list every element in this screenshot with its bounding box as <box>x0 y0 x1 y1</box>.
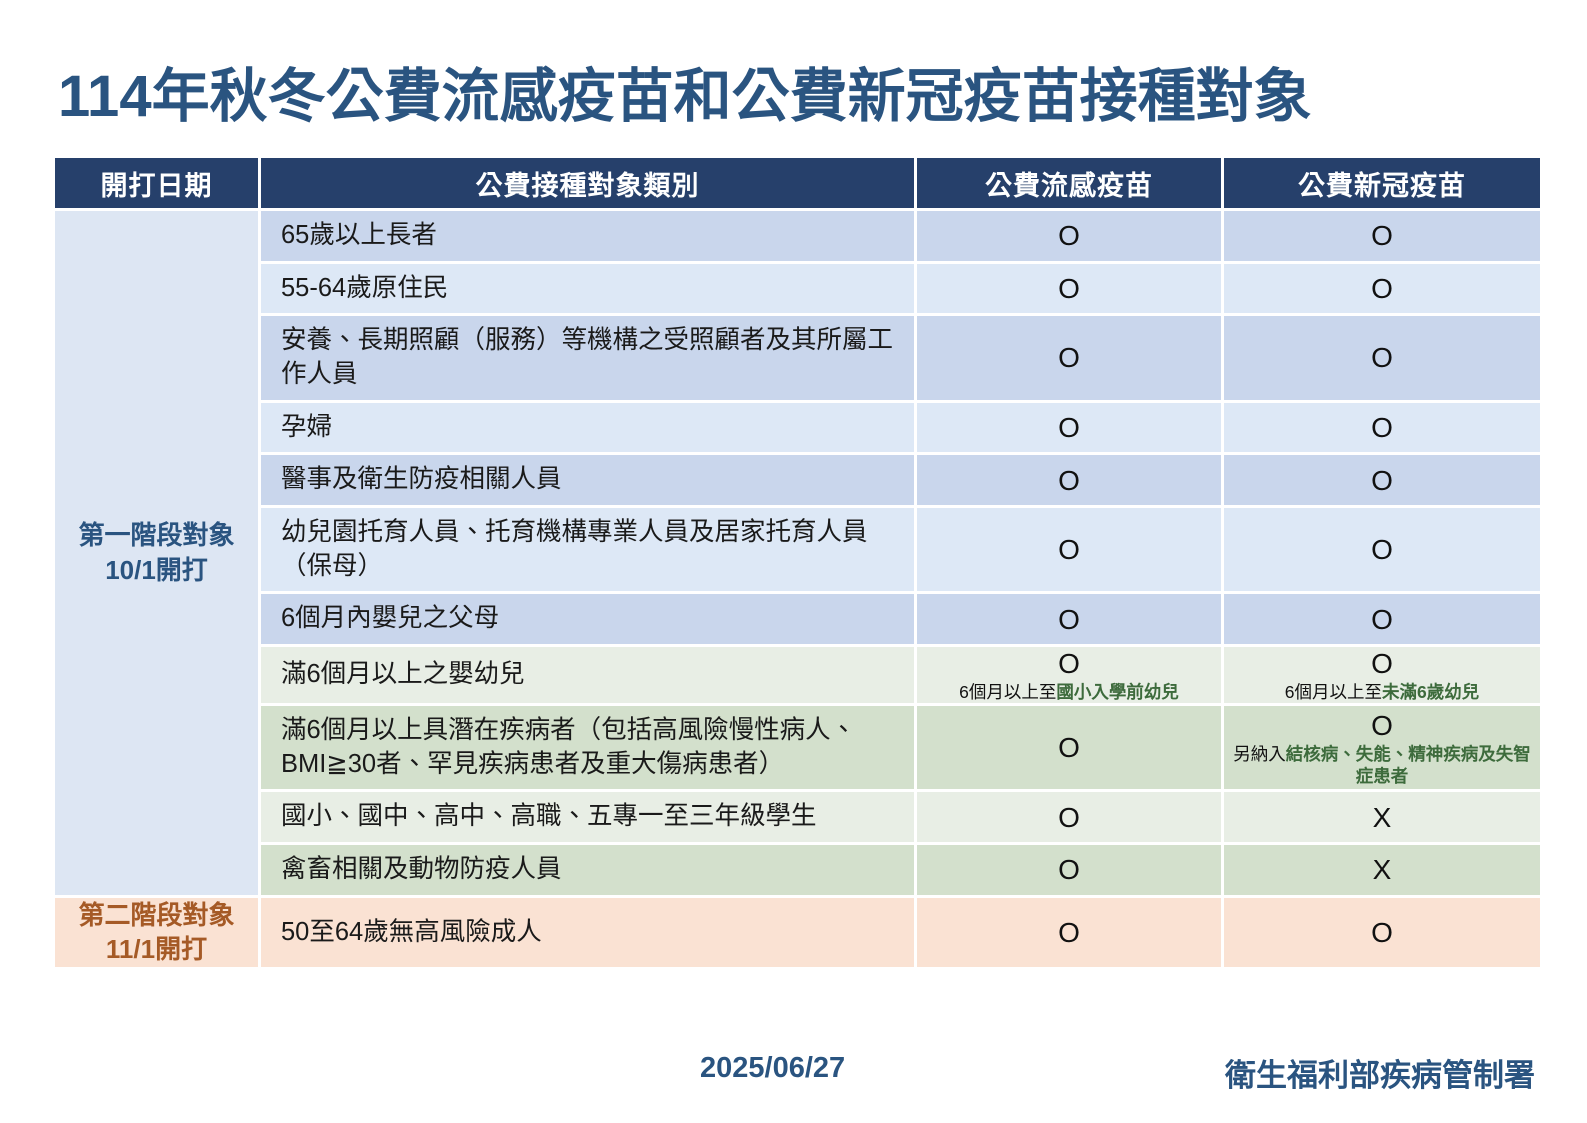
category-cell: 孕婦 <box>261 403 914 453</box>
flu-mark-cell: O <box>917 455 1221 505</box>
category-cell: 禽畜相關及動物防疫人員 <box>261 845 914 895</box>
flu-mark-cell: O <box>917 792 1221 842</box>
covid-eligibility-mark: O <box>1224 916 1540 949</box>
table-row: 孕婦OO <box>55 403 1540 453</box>
column-header-category: 公費接種對象類別 <box>261 158 914 208</box>
category-cell: 滿6個月以上之嬰幼兒 <box>261 647 914 703</box>
table-row: 第一階段對象10/1開打65歲以上長者OO <box>55 211 1540 261</box>
covid-note-prefix: 另納入 <box>1233 744 1286 764</box>
covid-eligibility-mark: O <box>1224 647 1540 680</box>
covid-mark-cell: O <box>1224 594 1540 644</box>
table-row: 滿6個月以上具潛在疾病者（包括高風險慢性病人、BMI≧30者、罕見疾病患者及重大… <box>55 706 1540 789</box>
covid-mark-note: 6個月以上至未滿6歲幼兒 <box>1224 681 1540 703</box>
phase-title: 第二階段對象 <box>55 898 258 933</box>
category-cell: 幼兒園托育人員、托育機構專業人員及居家托育人員（保母） <box>261 508 914 591</box>
column-header-flu: 公費流感疫苗 <box>917 158 1221 208</box>
flu-eligibility-mark: O <box>917 533 1221 566</box>
flu-eligibility-mark: O <box>917 916 1221 949</box>
table-row: 禽畜相關及動物防疫人員OX <box>55 845 1540 895</box>
footer-date: 2025/06/27 <box>700 1052 845 1085</box>
covid-eligibility-mark: X <box>1224 801 1540 834</box>
covid-note-highlight: 未滿6歲幼兒 <box>1382 682 1479 702</box>
flu-eligibility-mark: O <box>917 411 1221 444</box>
category-cell: 國小、國中、高中、高職、五專一至三年級學生 <box>261 792 914 842</box>
covid-mark-cell: O另納入結核病、失能、精神疾病及失智症患者 <box>1224 706 1540 789</box>
column-header-date: 開打日期 <box>55 158 258 208</box>
vaccination-eligibility-table: 開打日期 公費接種對象類別 公費流感疫苗 公費新冠疫苗 第一階段對象10/1開打… <box>52 155 1543 970</box>
table-row: 滿6個月以上之嬰幼兒O6個月以上至國小入學前幼兒O6個月以上至未滿6歲幼兒 <box>55 647 1540 703</box>
covid-mark-cell: O <box>1224 508 1540 591</box>
covid-eligibility-mark: O <box>1224 533 1540 566</box>
flu-mark-cell: O <box>917 264 1221 314</box>
flu-note-highlight: 國小入學前幼兒 <box>1056 682 1179 702</box>
covid-mark-cell: O <box>1224 898 1540 968</box>
flu-eligibility-mark: O <box>917 853 1221 886</box>
covid-note-highlight: 結核病、失能、精神疾病及失智症患者 <box>1286 744 1531 786</box>
covid-eligibility-mark: O <box>1224 341 1540 374</box>
flu-mark-cell: O <box>917 898 1221 968</box>
table-row: 國小、國中、高中、高職、五專一至三年級學生OX <box>55 792 1540 842</box>
flu-mark-cell: O <box>917 845 1221 895</box>
column-header-covid: 公費新冠疫苗 <box>1224 158 1540 208</box>
flu-mark-cell: O <box>917 706 1221 789</box>
covid-note-prefix: 6個月以上至 <box>1285 682 1382 702</box>
flu-eligibility-mark: O <box>917 219 1221 252</box>
table-row: 第二階段對象11/1開打50至64歲無高風險成人OO <box>55 898 1540 968</box>
table-header-row: 開打日期 公費接種對象類別 公費流感疫苗 公費新冠疫苗 <box>55 158 1540 208</box>
category-cell: 55-64歲原住民 <box>261 264 914 314</box>
covid-eligibility-mark: X <box>1224 853 1540 886</box>
covid-eligibility-mark: O <box>1224 603 1540 636</box>
table-body: 第一階段對象10/1開打65歲以上長者OO55-64歲原住民OO安養、長期照顧（… <box>55 211 1540 967</box>
flu-eligibility-mark: O <box>917 647 1221 680</box>
phase-title: 第一階段對象 <box>55 518 258 553</box>
flu-mark-note: 6個月以上至國小入學前幼兒 <box>917 681 1221 703</box>
flu-mark-cell: O <box>917 316 1221 399</box>
covid-mark-cell: O <box>1224 455 1540 505</box>
covid-eligibility-mark: O <box>1224 464 1540 497</box>
category-cell: 滿6個月以上具潛在疾病者（包括高風險慢性病人、BMI≧30者、罕見疾病患者及重大… <box>261 706 914 789</box>
covid-mark-cell: X <box>1224 792 1540 842</box>
flu-mark-cell: O <box>917 508 1221 591</box>
phase-start-date: 10/1開打 <box>55 553 258 588</box>
covid-eligibility-mark: O <box>1224 219 1540 252</box>
category-cell: 醫事及衛生防疫相關人員 <box>261 455 914 505</box>
covid-mark-cell: O <box>1224 316 1540 399</box>
footer-organization: 衛生福利部疾病管制署 <box>1225 1050 1535 1095</box>
phase-label-1: 第一階段對象10/1開打 <box>55 211 258 895</box>
category-cell: 6個月內嬰兒之父母 <box>261 594 914 644</box>
flu-mark-cell: O6個月以上至國小入學前幼兒 <box>917 647 1221 703</box>
table-row: 55-64歲原住民OO <box>55 264 1540 314</box>
category-cell: 50至64歲無高風險成人 <box>261 898 914 968</box>
table-row: 安養、長期照顧（服務）等機構之受照顧者及其所屬工作人員OO <box>55 316 1540 399</box>
flu-mark-cell: O <box>917 403 1221 453</box>
flu-note-prefix: 6個月以上至 <box>959 682 1056 702</box>
covid-mark-cell: X <box>1224 845 1540 895</box>
flu-eligibility-mark: O <box>917 603 1221 636</box>
covid-mark-cell: O <box>1224 211 1540 261</box>
phase-label-2: 第二階段對象11/1開打 <box>55 898 258 968</box>
flu-mark-cell: O <box>917 594 1221 644</box>
flu-eligibility-mark: O <box>917 731 1221 764</box>
page-title: 114年秋冬公費流感疫苗和公費新冠疫苗接種對象 <box>58 58 1538 136</box>
poster-canvas: 114年秋冬公費流感疫苗和公費新冠疫苗接種對象 開打日期 公費接種對象類別 公費… <box>0 0 1587 1123</box>
table-row: 幼兒園托育人員、托育機構專業人員及居家托育人員（保母）OO <box>55 508 1540 591</box>
table-row: 6個月內嬰兒之父母OO <box>55 594 1540 644</box>
category-cell: 安養、長期照顧（服務）等機構之受照顧者及其所屬工作人員 <box>261 316 914 399</box>
table-row: 醫事及衛生防疫相關人員OO <box>55 455 1540 505</box>
covid-mark-cell: O <box>1224 264 1540 314</box>
covid-eligibility-mark: O <box>1224 411 1540 444</box>
covid-mark-cell: O6個月以上至未滿6歲幼兒 <box>1224 647 1540 703</box>
covid-mark-note: 另納入結核病、失能、精神疾病及失智症患者 <box>1224 743 1540 787</box>
category-cell: 65歲以上長者 <box>261 211 914 261</box>
phase-start-date: 11/1開打 <box>55 932 258 967</box>
flu-eligibility-mark: O <box>917 272 1221 305</box>
covid-eligibility-mark: O <box>1224 272 1540 305</box>
flu-mark-cell: O <box>917 211 1221 261</box>
covid-eligibility-mark: O <box>1224 709 1540 742</box>
flu-eligibility-mark: O <box>917 801 1221 834</box>
flu-eligibility-mark: O <box>917 341 1221 374</box>
covid-mark-cell: O <box>1224 403 1540 453</box>
flu-eligibility-mark: O <box>917 464 1221 497</box>
